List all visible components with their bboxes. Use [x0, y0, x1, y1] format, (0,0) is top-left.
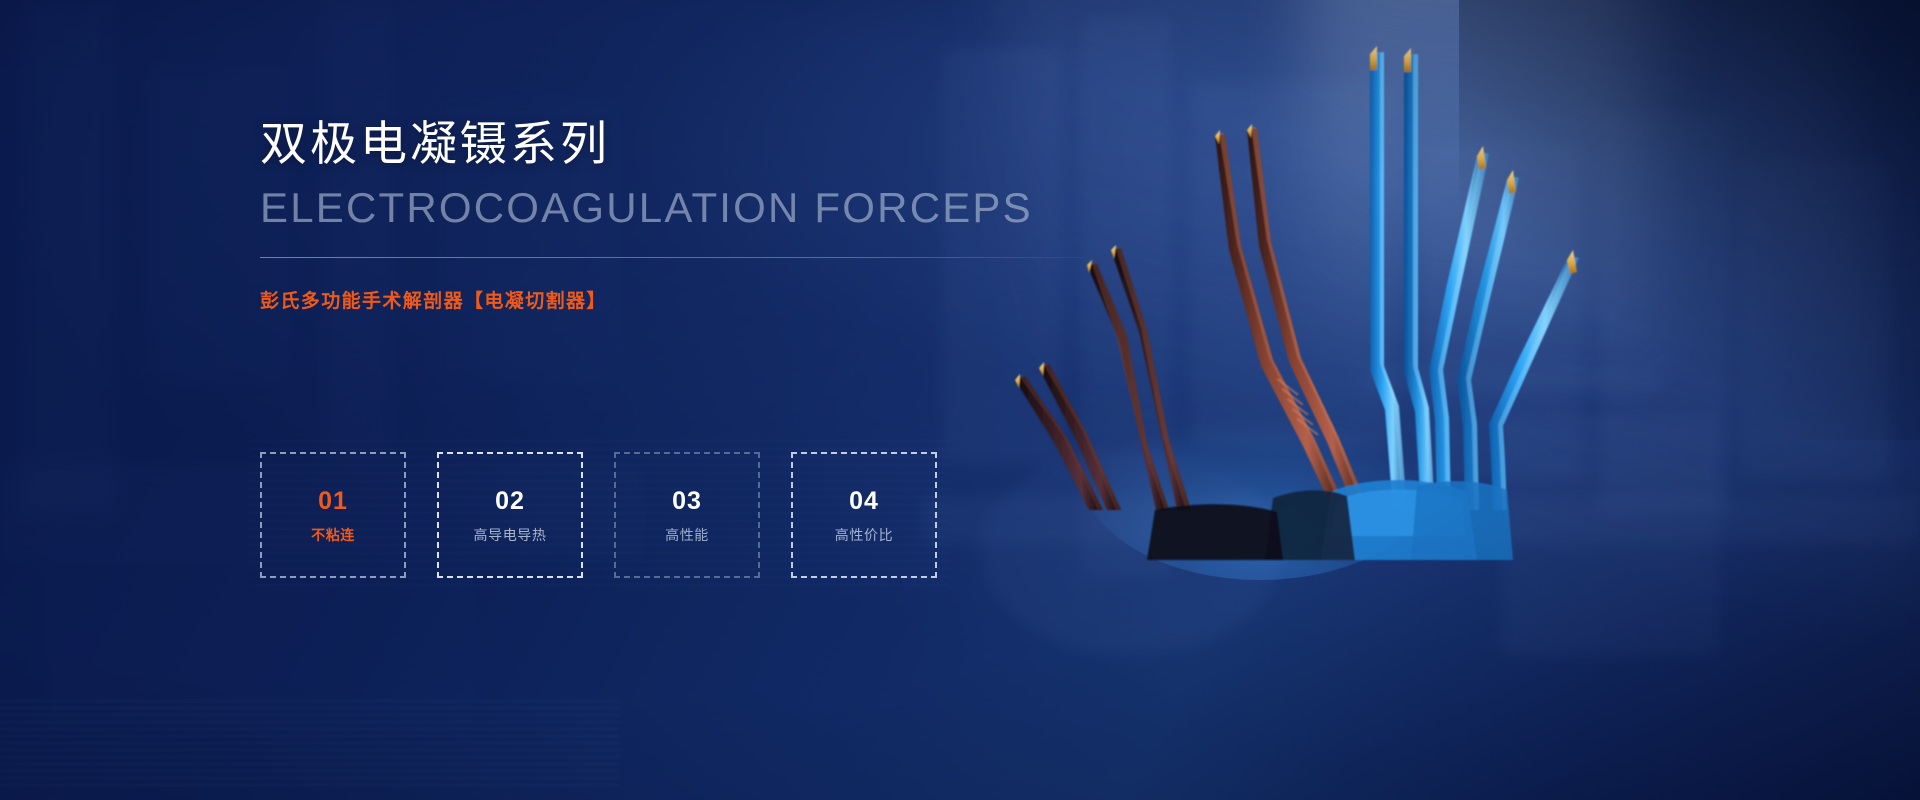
feature-item-02[interactable]: 02 高导电导热: [437, 452, 583, 578]
page-title: 双极电凝镊系列: [260, 118, 1090, 171]
product-tagline: 彭氏多功能手术解剖器【电凝切割器】: [260, 286, 1090, 313]
feature-label: 不粘连: [311, 528, 355, 542]
product-banner: 双极电凝镊系列 ELECTROCOAGULATION FORCEPS 彭氏多功能…: [0, 0, 1920, 800]
page-subtitle-english: ELECTROCOAGULATION FORCEPS: [260, 185, 1090, 231]
feature-number: 01: [318, 489, 348, 514]
feature-label: 高性能: [665, 528, 709, 542]
feature-label: 高性价比: [835, 528, 893, 542]
feature-item-01[interactable]: 01 不粘连: [260, 452, 406, 578]
divider: [260, 257, 1085, 258]
feature-item-03[interactable]: 03 高性能: [614, 452, 760, 578]
banner-text-block: 双极电凝镊系列 ELECTROCOAGULATION FORCEPS 彭氏多功能…: [260, 118, 1090, 313]
background-blinds-texture: [0, 700, 620, 788]
feature-number: 02: [495, 489, 525, 514]
feature-number: 03: [672, 489, 702, 514]
feature-number: 04: [849, 489, 879, 514]
feature-list: 01 不粘连 02 高导电导热 03 高性能 04 高性价比: [260, 452, 937, 578]
feature-label: 高导电导热: [474, 528, 547, 542]
feature-item-04[interactable]: 04 高性价比: [791, 452, 937, 578]
